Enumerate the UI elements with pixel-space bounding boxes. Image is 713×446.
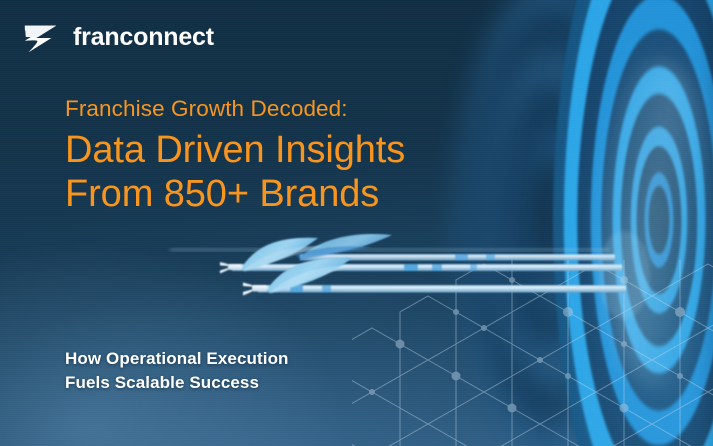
brand-name: franconnect: [73, 25, 214, 50]
subtitle-line-2: Fuels Scalable Success: [65, 371, 289, 395]
headline-line-1: Data Driven Insights: [65, 128, 405, 172]
brand-logo[interactable]: franconnect: [20, 18, 214, 56]
subtitle-line-1: How Operational Execution: [65, 347, 289, 371]
franconnect-z-arrow-logo-icon: [20, 18, 62, 56]
headline-block: Franchise Growth Decoded: Data Driven In…: [65, 96, 405, 216]
subtitle-block: How Operational Execution Fuels Scalable…: [65, 347, 289, 395]
promo-banner: franconnect Franchise Growth Decoded: Da…: [0, 0, 713, 446]
headline-line-2: From 850+ Brands: [65, 172, 405, 216]
headline-kicker: Franchise Growth Decoded:: [65, 96, 405, 123]
